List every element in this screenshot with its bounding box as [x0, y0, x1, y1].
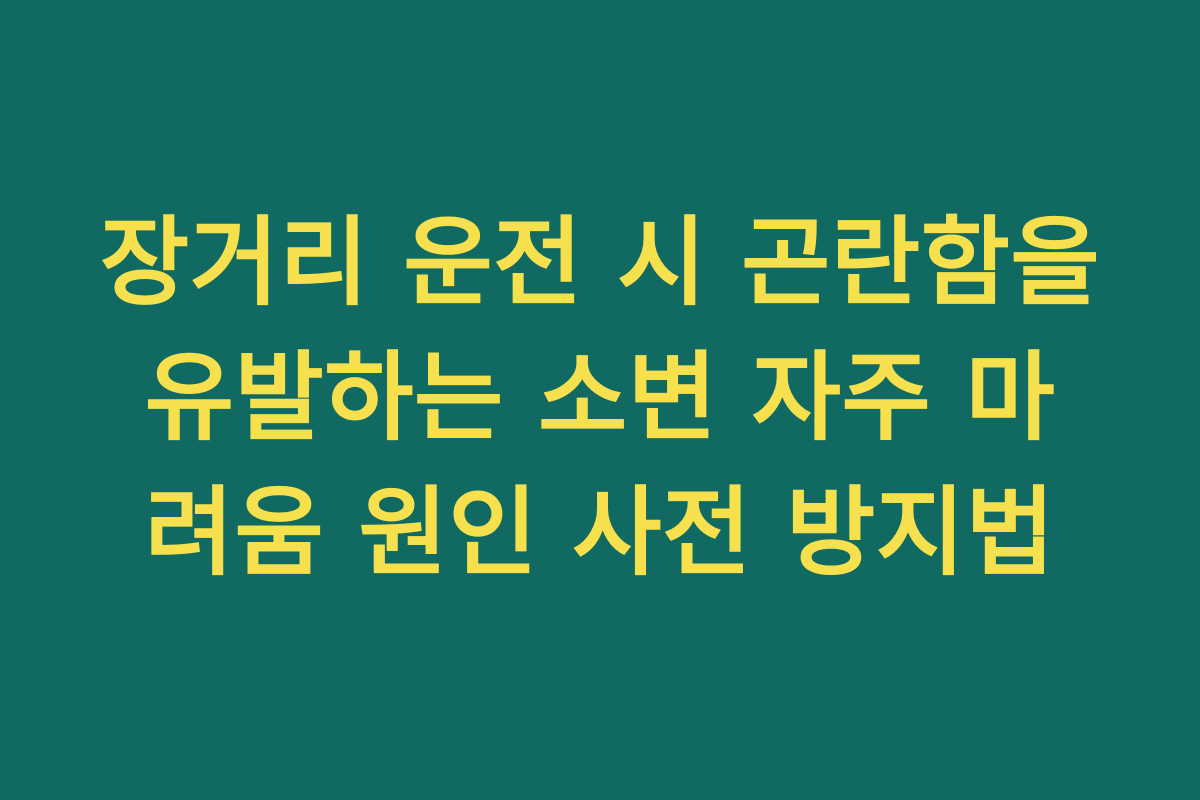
- title-line-2: 유발하는 소변 자주 마: [145, 330, 1055, 465]
- title-line-1: 장거리 운전 시 곤란함을: [100, 195, 1100, 330]
- page-title: 장거리 운전 시 곤란함을 유발하는 소변 자주 마 려움 원인 사전 방지법: [50, 195, 1150, 600]
- title-line-3: 려움 원인 사전 방지법: [145, 465, 1055, 600]
- thumbnail-canvas: 장거리 운전 시 곤란함을 유발하는 소변 자주 마 려움 원인 사전 방지법: [0, 0, 1200, 800]
